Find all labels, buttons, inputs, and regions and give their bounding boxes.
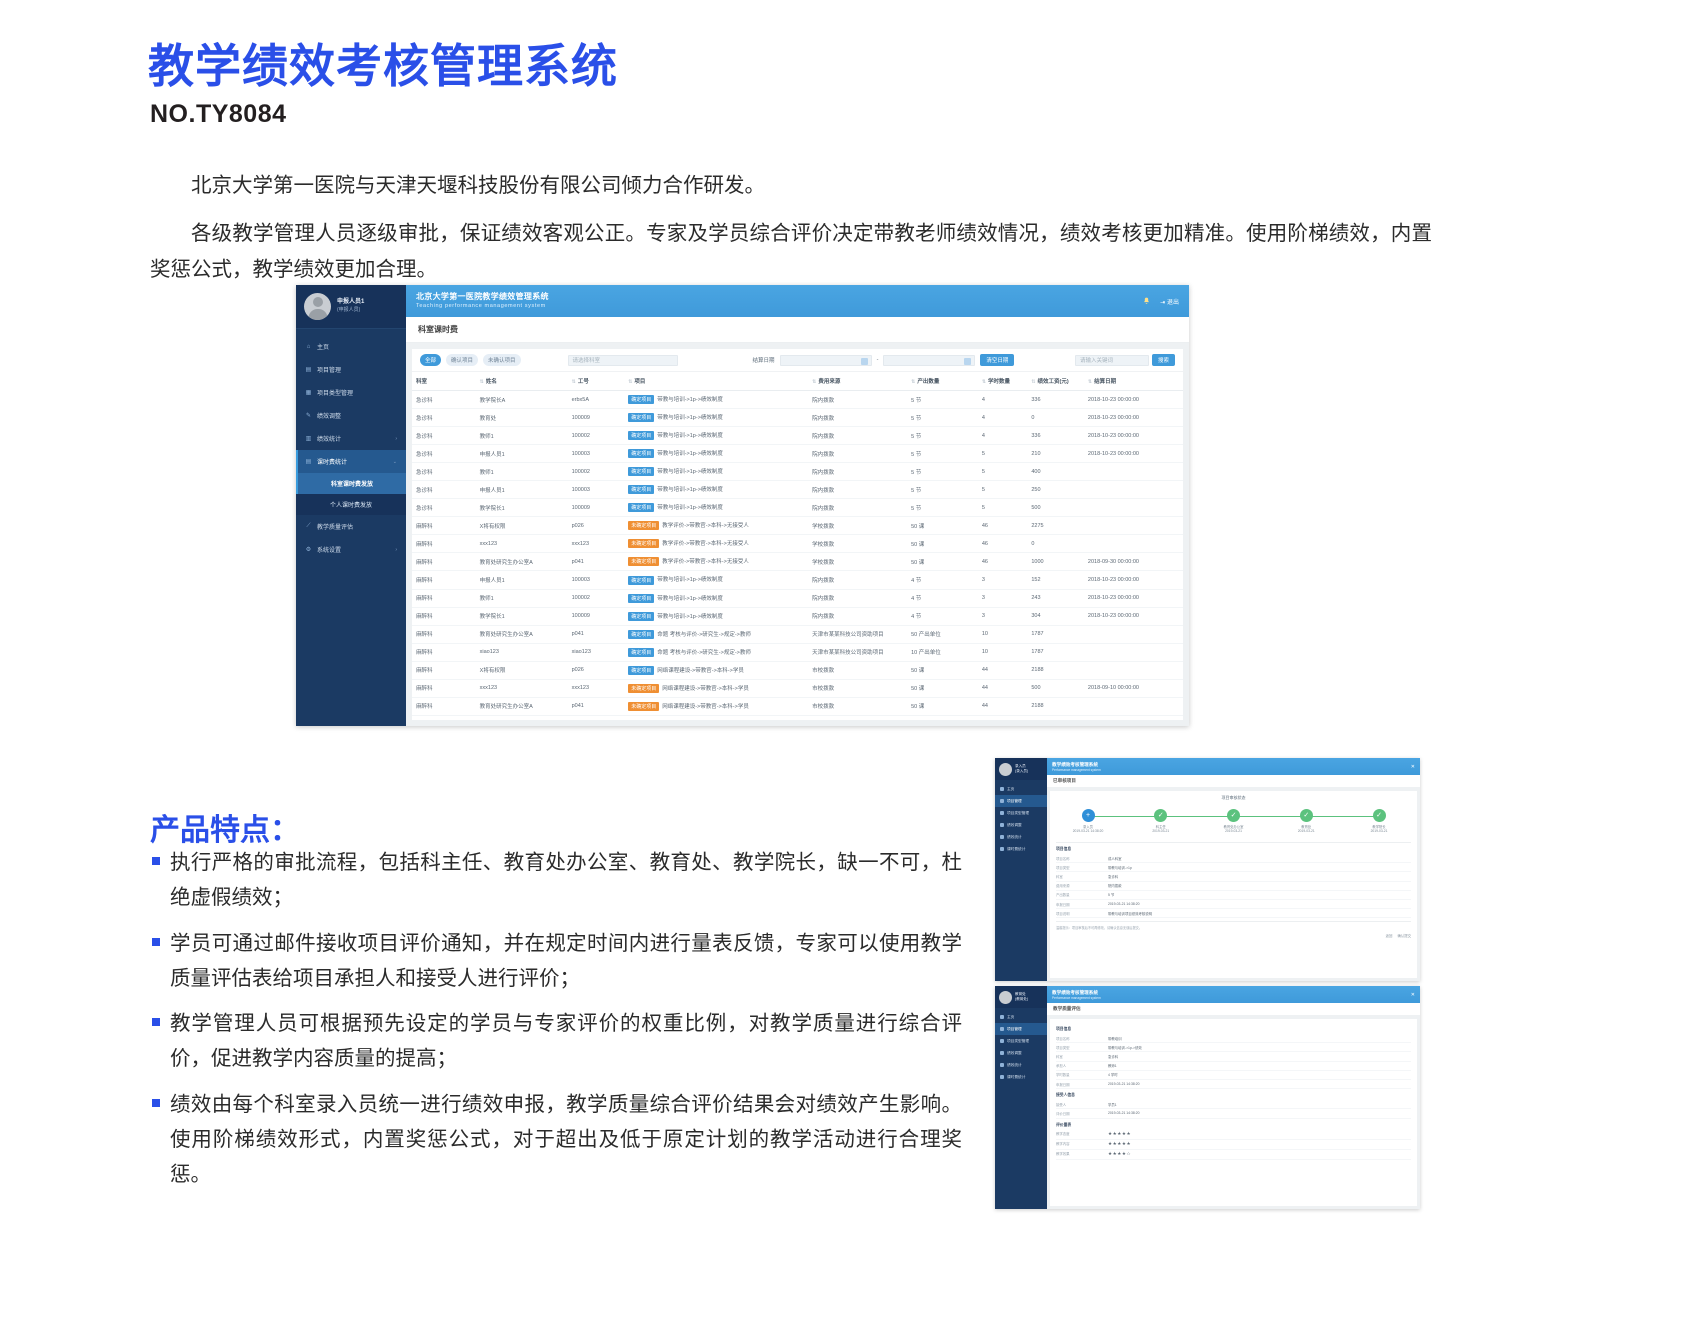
table-cell-5: 50 产出单位: [907, 625, 978, 643]
table-cell-3: 确定项目带教与培训->1p->绩效制度: [624, 445, 808, 463]
table-row[interactable]: 急诊科教学院长Aerbx5A确定项目带教与培训->1p->绩效制度院内拨款5 节…: [412, 391, 1183, 409]
table-cell-8: 2018-09-10 00:00:00: [1084, 679, 1183, 697]
field-key: 费用来源: [1056, 883, 1108, 888]
table-cell-1: 教师1: [476, 427, 568, 445]
table-cell-7: 0: [1027, 409, 1084, 427]
thumb-footer-button-1[interactable]: 确认提交: [1397, 933, 1411, 938]
table-cell-3: 未确定项目网络课程建设->带教官->本科->学员: [624, 697, 808, 715]
table-cell-2: erbx5A: [568, 391, 625, 409]
filter-chip-unconfirmed[interactable]: 未确认项目: [483, 354, 521, 366]
table-row[interactable]: 麻醉科xxx123xxx123未确定项目教学评价->带教官->本科->无接受人学…: [412, 535, 1183, 553]
score-row-2: 教学效果★★★★☆: [1056, 1150, 1411, 1160]
table-cell-2: 100003: [568, 445, 625, 463]
table-cell-6: 4: [978, 427, 1028, 445]
thumb-menu-item-5[interactable]: 课时费统计: [995, 843, 1047, 855]
table-column-5[interactable]: ⇅产出数量: [907, 372, 978, 391]
thumb-card-title: 项目审核状态: [1056, 795, 1411, 801]
sort-icon: ⇅: [480, 379, 484, 385]
table-cell-4: 学校拨款: [808, 553, 907, 571]
feature-item-0: 执行严格的审批流程，包括科主任、教育处办公室、教育处、教学院长，缺一不可，杜绝虚…: [152, 845, 962, 916]
field-key: 项目类型: [1056, 865, 1108, 870]
field-row-4: 产出数量5 节: [1056, 891, 1411, 900]
page-title: 教学绩效考核管理系统: [148, 30, 618, 96]
table-cell-7: 1787: [1027, 643, 1084, 661]
user-name: 申报人员1: [337, 298, 364, 307]
intro-paragraph-2: 各级教学管理人员逐级审批，保证绩效客观公正。专家及学员综合评价决定带教老师绩效情…: [150, 216, 1432, 288]
sidebar-item-3[interactable]: ✎绩效调整: [296, 404, 406, 427]
clear-date-button[interactable]: 清空日期: [980, 354, 1014, 366]
sidebar-subitem-1[interactable]: 个人课时费发放: [296, 494, 406, 515]
thumb-menu-item-1[interactable]: 项目管理: [995, 1023, 1047, 1035]
project-status-tag: 确定项目: [628, 612, 654, 621]
thumb-menu-item-0[interactable]: 主页: [995, 783, 1047, 795]
table-cell-1: xxx123: [476, 535, 568, 553]
thumb-menu-item-1[interactable]: 项目管理: [995, 795, 1047, 807]
table-column-6[interactable]: ⇅学时数量: [978, 372, 1028, 391]
project-status-tag: 未确定项目: [628, 521, 659, 530]
table-cell-8: 2018-10-23 00:00:00: [1084, 427, 1183, 445]
field-key: 科室: [1056, 874, 1108, 879]
table-cell-3: 未确定项目教学评价->带教官->本科->无接受人: [624, 553, 808, 571]
field-value: 4 学时: [1108, 1072, 1411, 1077]
table-cell-1: 教学院长A: [476, 391, 568, 409]
table-cell-8: [1084, 643, 1183, 661]
sidebar-user[interactable]: 申报人员1 (申报人员): [296, 285, 406, 329]
score-label: 教学效果: [1056, 1151, 1108, 1157]
table-cell-4: 市校拨款: [808, 661, 907, 679]
table-cell-7: 152: [1027, 571, 1084, 589]
app-sidebar: 申报人员1 (申报人员) ⌂主页▤项目管理▦项目类型管理✎绩效调整▥绩效统计›▤…: [296, 285, 406, 726]
settlement-date-label: 结算日期: [753, 356, 775, 364]
table-column-4[interactable]: ⇅费用来源: [808, 372, 907, 391]
bullet-icon: [152, 938, 160, 946]
table-cell-3: 确定项目网络课程建设->带教官->本科->学员: [624, 661, 808, 679]
table-row[interactable]: 麻醉科X将有权限p026确定项目网络课程建设->带教官->本科->学员市校拨款5…: [412, 661, 1183, 679]
table-cell-4: 天津市某某科技公司资助项目: [808, 625, 907, 643]
table-row[interactable]: 麻醉科教育处研究生办公室Ap041未确定项目网络课程建设->带教官->本科->学…: [412, 697, 1183, 715]
table-cell-2: xxx123: [568, 679, 625, 697]
field-value: 急诊科: [1108, 1054, 1411, 1059]
gear-icon: ⚙: [305, 546, 312, 553]
avatar: [304, 293, 331, 320]
field-value: 2019-03-21 14:38:20: [1108, 1082, 1411, 1087]
thumb-sidebar: 录入员 (录入员) 主页项目管理项目类型管理绩效调整绩效统计课时费统计: [995, 758, 1047, 981]
feature-text: 绩效由每个科室录入员统一进行绩效申报，教学质量综合评价结果会对绩效产生影响。使用…: [170, 1087, 962, 1193]
field-row-4: 学时数量4 学时: [1056, 1071, 1411, 1080]
table-cell-6: 3: [978, 571, 1028, 589]
table-cell-4: 学校拨款: [808, 517, 907, 535]
thumb-menu-item-4[interactable]: 绩效统计: [995, 831, 1047, 843]
table-cell-1: X将有权限: [476, 517, 568, 535]
table-cell-8: 2018-09-30 00:00:00: [1084, 553, 1183, 571]
table-cell-6: 44: [978, 697, 1028, 715]
table-cell-0: 急诊科: [412, 391, 476, 409]
table-cell-7: 2188: [1027, 697, 1084, 715]
table-cell-0: 麻醉科: [412, 535, 476, 553]
table-cell-2: xiao123: [568, 643, 625, 661]
table-row[interactable]: 急诊科教学院长1100009确定项目带教与培训->1p->绩效制度院内拨款5 节…: [412, 499, 1183, 517]
table-cell-6: 4: [978, 391, 1028, 409]
folder-icon: ▤: [305, 366, 312, 373]
table-row[interactable]: 麻醉科X将有权限p026未确定项目教学评价->带教官->本科->无接受人学校拨款…: [412, 517, 1183, 535]
thumb-people-list: 接受人学员1评价日期2019-03-21 14:38:20: [1056, 1100, 1411, 1118]
table-cell-4: 院内拨款: [808, 409, 907, 427]
table-cell-6: 5: [978, 499, 1028, 517]
table-cell-8: [1084, 481, 1183, 499]
sidebar-item-2[interactable]: ▦项目类型管理: [296, 381, 406, 404]
thumb-page-heading: 已审核项目: [1047, 775, 1420, 788]
table-cell-1: 教师1: [476, 463, 568, 481]
score-row-0: 教学态度★★★★★: [1056, 1130, 1411, 1140]
user-role: (申报人员): [337, 307, 364, 315]
star-rating[interactable]: ★★★★☆: [1108, 1151, 1411, 1157]
field-value: 带教与培训项目绩效考核说明: [1108, 911, 1411, 916]
table-column-0[interactable]: 科室: [412, 372, 476, 391]
approval-step-1: ✓科主任2019-03-21: [1135, 809, 1187, 833]
thumb-title-cn: 教学绩效考核管理系统: [1052, 990, 1101, 996]
table-cell-1: xiao123: [476, 643, 568, 661]
project-status-tag: 确定项目: [628, 648, 654, 657]
project-status-tag: 确定项目: [628, 666, 654, 675]
close-icon[interactable]: ✕: [1411, 764, 1415, 770]
sidebar-item-4[interactable]: ▥绩效统计›: [296, 427, 406, 450]
thumb-card: 项目信息 项目名称带教培训项目类型带教与培训->1p->绩效科室急诊科承担人教师…: [1050, 1019, 1417, 1206]
table-cell-2: p026: [568, 517, 625, 535]
field-value: 带教与培训->1p->绩效: [1108, 1045, 1411, 1050]
table-row[interactable]: 麻醉科教育处研究生办公室Ap041确定项目学生活动->继续教育->规定->学员天…: [412, 715, 1183, 720]
thumb-menu-item-2[interactable]: 项目类型管理: [995, 1035, 1047, 1047]
table-row[interactable]: 麻醉科xxx123xxx123未确定项目网络课程建设->带教官->本科->学员市…: [412, 679, 1183, 697]
thumb-menu-item-3[interactable]: 绩效调整: [995, 819, 1047, 831]
menu-icon: [1000, 1015, 1004, 1019]
table-row[interactable]: 麻醉科申报人员1100003确定项目带教与培训->1p->绩效制度院内拨款4 节…: [412, 571, 1183, 589]
menu-icon: [1000, 787, 1004, 791]
field-key: 项目说明: [1056, 911, 1108, 916]
sidebar-item-label: 主页: [317, 342, 329, 351]
table-row[interactable]: 急诊科教师1100002确定项目带教与培训->1p->绩效制度院内拨款5 节54…: [412, 463, 1183, 481]
feature-text: 教学管理人员可根据预先设定的学员与专家评价的权重比例，对教学质量进行综合评价，促…: [170, 1006, 962, 1077]
date-to-input[interactable]: [883, 355, 975, 366]
field-value: 学员1: [1108, 1102, 1411, 1107]
table-cell-5: 50 课: [907, 553, 978, 571]
app-screenshot: 申报人员1 (申报人员) ⌂主页▤项目管理▦项目类型管理✎绩效调整▥绩效统计›▤…: [296, 285, 1189, 726]
thumb-menu-item-0[interactable]: 主页: [995, 1011, 1047, 1023]
star-rating[interactable]: ★★★★★: [1108, 1131, 1411, 1137]
field-key: 申报日期: [1056, 1082, 1108, 1087]
project-status-tag: 未确定项目: [628, 539, 659, 548]
table-cell-3: 确定项目学生活动->继续教育->规定->学员: [624, 715, 808, 720]
project-status-tag: 确定项目: [628, 449, 654, 458]
filter-toolbar: 全部 确认项目 未确认项目 请选择科室 结算日期 - 清空日期 请输入关键词 搜…: [412, 349, 1183, 372]
table-cell-2: p041: [568, 553, 625, 571]
thumb-section-label: 项目信息: [1056, 847, 1411, 852]
sidebar-item-5[interactable]: ▤课时费统计⌄: [296, 450, 406, 473]
table-cell-0: 麻醉科: [412, 661, 476, 679]
department-select[interactable]: 请选择科室: [568, 355, 678, 366]
thumb-menu-label: 项目类型管理: [1007, 1039, 1029, 1044]
calendar-icon: [861, 358, 868, 365]
field-row-1: 项目类型带教与培训->1p->绩效: [1056, 1043, 1411, 1052]
field-row-1: 评价日期2019-03-21 14:38:20: [1056, 1109, 1411, 1118]
sidebar-item-label: 绩效调整: [317, 411, 341, 420]
table-cell-3: 未确定项目网络课程建设->带教官->本科->学员: [624, 679, 808, 697]
step-icon: ✓: [1300, 809, 1313, 822]
step-icon: ✓: [1154, 809, 1167, 822]
sidebar-subitem-0[interactable]: 科室课时费发放: [296, 473, 406, 494]
table-cell-0: 急诊科: [412, 499, 476, 517]
sidebar-item-tail-1[interactable]: ⚙系统设置›: [296, 538, 406, 561]
logout-button[interactable]: ⇥ 退出: [1160, 297, 1179, 306]
thumb-footer-button-0[interactable]: 返回: [1386, 933, 1393, 938]
field-key: 科室: [1056, 1054, 1108, 1059]
table-cell-1: X将有权限: [476, 661, 568, 679]
filter-chip-confirmed[interactable]: 确认项目: [446, 354, 478, 366]
search-input[interactable]: 请输入关键词: [1075, 355, 1149, 366]
thumb-menu: 主页项目管理项目类型管理绩效调整绩效统计课时费统计: [995, 780, 1047, 855]
table-cell-2: 100009: [568, 499, 625, 517]
table-cell-0: 急诊科: [412, 427, 476, 445]
thumb-menu-item-5[interactable]: 课时费统计: [995, 1071, 1047, 1083]
app-main: 北京大学第一医院教学绩效管理系统 Teaching performance ma…: [406, 285, 1189, 726]
thumb-section-people: 接受人信息: [1056, 1093, 1411, 1098]
table-cell-1: 教育处: [476, 409, 568, 427]
search-button[interactable]: 搜索: [1152, 354, 1175, 366]
table-row[interactable]: 急诊科申报人员1100003确定项目带教与培训->1p->绩效制度院内拨款5 节…: [412, 445, 1183, 463]
table-cell-7: 243: [1027, 589, 1084, 607]
project-status-tag: 未确定项目: [628, 702, 659, 711]
app-topbar: 北京大学第一医院教学绩效管理系统 Teaching performance ma…: [406, 285, 1189, 317]
thumb-field-list: 项目名称成人科室项目类型带教与培训->1p科室急诊科费用来源院内拨款产出数量5 …: [1056, 854, 1411, 918]
sidebar-item-1[interactable]: ▤项目管理: [296, 358, 406, 381]
table-cell-5: 5 节: [907, 427, 978, 445]
table-row[interactable]: 麻醉科xiao123xiao123确定项目命题 考核与评价->研究生->规定->…: [412, 643, 1183, 661]
filter-chip-all[interactable]: 全部: [420, 354, 441, 366]
thumb-menu-label: 主页: [1007, 1015, 1014, 1020]
field-key: 学时数量: [1056, 1072, 1108, 1077]
sidebar-item-label: 课时费统计: [317, 457, 347, 466]
date-from-input[interactable]: [780, 355, 872, 366]
menu-icon: [1000, 811, 1004, 815]
sidebar-item-tail-0[interactable]: ⟋教学质量评估: [296, 515, 406, 538]
table-cell-0: 麻醉科: [412, 553, 476, 571]
table-cell-0: 麻醉科: [412, 625, 476, 643]
table-cell-1: 教师1: [476, 589, 568, 607]
approval-step-2: ✓教育处办公室2019-03-21: [1208, 809, 1260, 833]
field-value: 带教培训: [1108, 1036, 1411, 1041]
sort-icon: ⇅: [1088, 379, 1092, 385]
divider: [1056, 921, 1411, 922]
table-cell-8: [1084, 499, 1183, 517]
table-cell-4: 院内拨款: [808, 427, 907, 445]
menu-icon: [1000, 847, 1004, 851]
approval-step-3: ✓教育处2019-03-21: [1280, 809, 1332, 833]
field-key: 接受人: [1056, 1102, 1108, 1107]
chevron-icon: ›: [395, 436, 397, 442]
table-cell-5: 10 产出单位: [907, 643, 978, 661]
sidebar-item-0[interactable]: ⌂主页: [296, 335, 406, 358]
table-cell-2: p041: [568, 697, 625, 715]
table-cell-3: 确定项目带教与培训->1p->绩效制度: [624, 427, 808, 445]
menu-icon: [1000, 1075, 1004, 1079]
table-cell-1: 教学院长1: [476, 499, 568, 517]
table-cell-8: 2018-10-23 00:00:00: [1084, 589, 1183, 607]
table-cell-7: 1000: [1027, 553, 1084, 571]
thumb-title-en: Performance management system: [1052, 996, 1101, 1000]
star-rating[interactable]: ★★★★★: [1108, 1141, 1411, 1147]
table-cell-6: 10: [978, 625, 1028, 643]
thumb-menu-label: 项目管理: [1007, 799, 1022, 804]
table-column-1[interactable]: ⇅姓名: [476, 372, 568, 391]
table-cell-0: 麻醉科: [412, 589, 476, 607]
table-column-2[interactable]: ⇅工号: [568, 372, 625, 391]
table-cell-6: 4: [978, 409, 1028, 427]
field-row-5: 申报日期2019-03-21 14:38:20: [1056, 900, 1411, 909]
app-body: 全部 确认项目 未确认项目 请选择科室 结算日期 - 清空日期 请输入关键词 搜…: [406, 343, 1189, 726]
table-row[interactable]: 急诊科教育处100009确定项目带教与培训->1p->绩效制度院内拨款5 节40…: [412, 409, 1183, 427]
table-column-3[interactable]: ⇅项目: [624, 372, 808, 391]
thumb-menu-label: 课时费统计: [1007, 1075, 1025, 1080]
calc-icon: ▤: [305, 458, 312, 465]
sidebar-item-label: 项目类型管理: [317, 388, 353, 397]
table-cell-4: 院内拨款: [808, 391, 907, 409]
thumb-title-en: Performance management system: [1052, 768, 1101, 772]
table-cell-2: 100003: [568, 571, 625, 589]
thumb-field-list: 项目名称带教培训项目类型带教与培训->1p->绩效科室急诊科承担人教师1学时数量…: [1056, 1034, 1411, 1089]
thumb-menu: 主页项目管理项目类型管理绩效调整绩效统计课时费统计: [995, 1008, 1047, 1083]
thumb-main: 教学绩效考核管理系统 Performance management system…: [1047, 758, 1420, 981]
table-cell-0: 麻醉科: [412, 643, 476, 661]
bullet-icon: [152, 857, 160, 865]
table-cell-7: 500: [1027, 499, 1084, 517]
menu-icon: [1000, 1039, 1004, 1043]
table-cell-1: 教育处研究生办公室A: [476, 625, 568, 643]
field-row-2: 科室急诊科: [1056, 1052, 1411, 1061]
sidebar-item-label: 教学质量评估: [317, 522, 353, 531]
project-status-tag: 确定项目: [628, 467, 654, 476]
table-cell-4: 院内拨款: [808, 571, 907, 589]
step-date: 2019-03-21: [1353, 829, 1405, 833]
table-cell-8: [1084, 517, 1183, 535]
sort-icon: ⇅: [812, 379, 816, 385]
table-cell-7: 210: [1027, 445, 1084, 463]
table-cell-3: 确定项目命题 考核与评价->研究生->规定->教师: [624, 643, 808, 661]
thumb-menu-item-4[interactable]: 绩效统计: [995, 1059, 1047, 1071]
table-cell-2: p041: [568, 715, 625, 720]
table-cell-7: 336: [1027, 391, 1084, 409]
grid-icon: ▦: [305, 389, 312, 396]
thumb-title-cn: 教学绩效考核管理系统: [1052, 762, 1101, 768]
feature-text: 学员可通过邮件接收项目评价通知，并在规定时间内进行量表反馈，专家可以使用教学质量…: [170, 926, 962, 997]
app-title-cn: 北京大学第一医院教学绩效管理系统: [416, 292, 549, 302]
page-heading: 科室课时费: [406, 317, 1189, 343]
table-cell-1: 申报人员1: [476, 481, 568, 499]
table-cell-6: 44: [978, 661, 1028, 679]
project-status-tag: 确定项目: [628, 485, 654, 494]
field-value: 带教与培训->1p: [1108, 865, 1411, 870]
approval-step-4: ✓教学院长2019-03-21: [1353, 809, 1405, 833]
approval-stepper: +录入员2019-03-21 14:38:20✓科主任2019-03-21✓教育…: [1056, 805, 1411, 839]
app-title-en: Teaching performance management system: [416, 303, 549, 310]
thumb-menu-label: 绩效统计: [1007, 1063, 1022, 1068]
table-row[interactable]: 麻醉科教师1100002确定项目带教与培训->1p->绩效制度院内拨款4 节32…: [412, 589, 1183, 607]
table-row[interactable]: 麻醉科教育处研究生办公室Ap041确定项目命题 考核与评价->研究生->规定->…: [412, 625, 1183, 643]
table-cell-5: 50 课: [907, 661, 978, 679]
thumb-menu-item-3[interactable]: 绩效调整: [995, 1047, 1047, 1059]
course-fee-table: 科室⇅姓名⇅工号⇅项目⇅费用来源⇅产出数量⇅学时数量⇅绩效工资(元)⇅结算日期 …: [412, 372, 1183, 720]
thumb-menu-label: 课时费统计: [1007, 847, 1025, 852]
table-cell-3: 确定项目命题 考核与评价->研究生->规定->教师: [624, 625, 808, 643]
intro-paragraph-1: 北京大学第一医院与天津天堰科技股份有限公司倾力合作研发。: [150, 168, 1432, 204]
thumb-menu-item-2[interactable]: 项目类型管理: [995, 807, 1047, 819]
chart-icon: ▥: [305, 435, 312, 442]
sort-icon: ⇅: [911, 379, 915, 385]
thumb-topbar: 教学绩效考核管理系统 Performance management system…: [1047, 986, 1420, 1003]
table-column-8[interactable]: ⇅结算日期: [1084, 372, 1183, 391]
table-cell-5: 5 节: [907, 409, 978, 427]
field-row-3: 费用来源院内拨款: [1056, 882, 1411, 891]
table-cell-5: 60 继续教育->规定->学员: [907, 715, 978, 720]
bullet-icon: [152, 1099, 160, 1107]
table-cell-2: 100009: [568, 607, 625, 625]
table-cell-7: 304: [1027, 607, 1084, 625]
table-cell-4: 天津市某某科技公司资助项目: [808, 715, 907, 720]
table-row[interactable]: 麻醉科教学院长1100009确定项目带教与培训->1p->绩效制度院内拨款4 节…: [412, 607, 1183, 625]
sidebar-item-label: 绩效统计: [317, 434, 341, 443]
field-key: 项目名称: [1056, 1036, 1108, 1041]
table-cell-8: [1084, 715, 1183, 720]
chevron-icon: ›: [395, 547, 397, 553]
thumb-menu-label: 绩效统计: [1007, 835, 1022, 840]
field-key: 项目类型: [1056, 1045, 1108, 1050]
thumb-user: 录入员 (录入员): [995, 758, 1047, 780]
project-status-tag: 确定项目: [628, 413, 654, 422]
table-cell-8: [1084, 463, 1183, 481]
field-value: 5 节: [1108, 892, 1411, 897]
step-icon: +: [1082, 809, 1095, 822]
table-cell-6: 30: [978, 715, 1028, 720]
field-row-5: 申报日期2019-03-21 14:38:20: [1056, 1080, 1411, 1089]
table-cell-3: 确定项目带教与培训->1p->绩效制度: [624, 391, 808, 409]
product-number: NO.TY8084: [150, 100, 287, 129]
field-value: 2019-03-21 14:38:20: [1108, 1111, 1411, 1116]
table-row[interactable]: 麻醉科教育处研究生办公室Ap041未确定项目教学评价->带教官->本科->无接受…: [412, 553, 1183, 571]
features-list: 执行严格的审批流程，包括科主任、教育处办公室、教育处、教学院长，缺一不可，杜绝虚…: [152, 845, 962, 1202]
menu-icon: [1000, 1051, 1004, 1055]
date-range-separator: -: [877, 357, 879, 363]
table-cell-3: 未确定项目教学评价->带教官->本科->无接受人: [624, 535, 808, 553]
table-column-7[interactable]: ⇅绩效工资(元): [1027, 372, 1084, 391]
table-cell-8: 2018-10-23 00:00:00: [1084, 571, 1183, 589]
thumb-user-role: (教育处): [1015, 997, 1028, 1002]
sort-icon: ⇅: [628, 379, 632, 385]
table-cell-5: 4 节: [907, 589, 978, 607]
close-icon[interactable]: ✕: [1411, 992, 1415, 998]
bell-icon[interactable]: [1142, 297, 1151, 306]
thumb-user-role: (录入员): [1015, 769, 1028, 774]
avatar: [999, 763, 1012, 776]
trend-icon: ⟋: [305, 523, 312, 530]
table-cell-1: xxx123: [476, 679, 568, 697]
field-key: 申报日期: [1056, 902, 1108, 907]
home-icon: ⌂: [305, 344, 312, 350]
score-row-1: 教学内容★★★★★: [1056, 1140, 1411, 1150]
table-cell-2: xxx123: [568, 535, 625, 553]
menu-icon: [1000, 835, 1004, 839]
table-cell-5: 5 节: [907, 445, 978, 463]
table-cell-5: 5 节: [907, 391, 978, 409]
table-row[interactable]: 急诊科教师1100002确定项目带教与培训->1p->绩效制度院内拨款5 节43…: [412, 427, 1183, 445]
table-row[interactable]: 急诊科申报人员1100003确定项目带教与培训->1p->绩效制度院内拨款5 节…: [412, 481, 1183, 499]
